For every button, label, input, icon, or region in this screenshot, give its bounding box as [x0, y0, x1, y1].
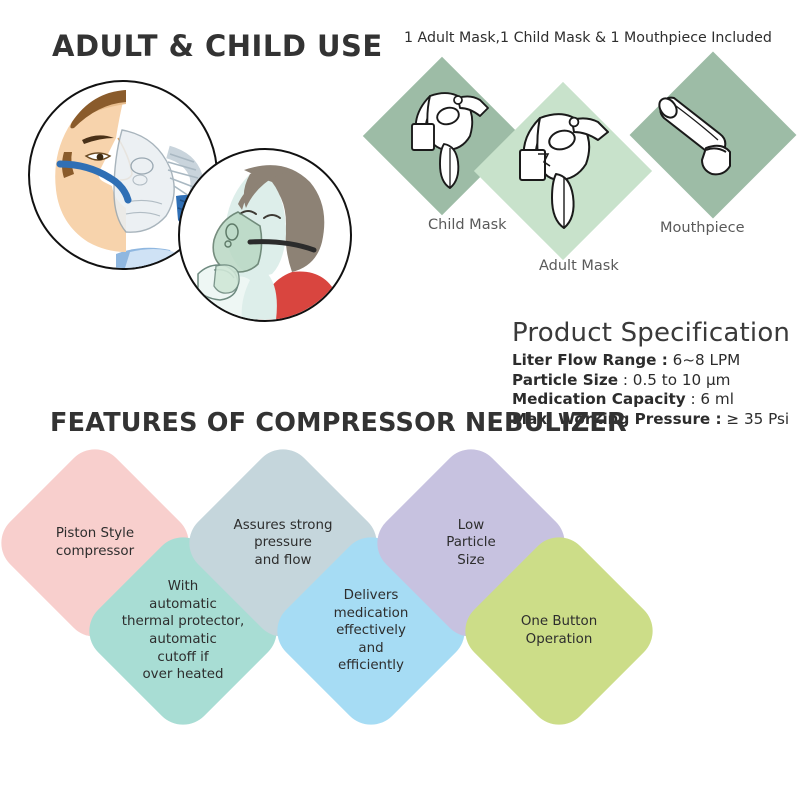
- adult-mask-icon: [512, 96, 622, 241]
- feature-diamond-6[interactable]: One ButtonOperation: [484, 556, 634, 706]
- spec-value-liter-flow-range: 6~8 LPM: [668, 351, 740, 369]
- kit-label-mouthpiece: Mouthpiece: [660, 220, 745, 236]
- kit-label-adult-mask: Adult Mask: [539, 258, 619, 274]
- spec-row-liter-flow-range: Liter Flow Range : 6~8 LPM: [512, 351, 792, 371]
- spec-row-medication-capacity: Medication Capacity : 6 ml: [512, 390, 792, 410]
- features-title: FEATURES OF COMPRESSOR NEBULIZER: [50, 408, 520, 438]
- specification-title: Product Specification: [512, 318, 792, 348]
- spec-value-particle-size: : 0.5 to 10 µm: [618, 371, 730, 389]
- spec-value-medication-capacity: : 6 ml: [686, 390, 734, 408]
- spec-key-medication-capacity: Medication Capacity: [512, 390, 686, 408]
- spec-row-particle-size: Particle Size : 0.5 to 10 µm: [512, 371, 792, 391]
- spec-value-max-working-pressure: ≥ 35 Psi: [722, 410, 790, 428]
- child-using-nebulizer-mask-icon: [180, 150, 350, 320]
- mouthpiece-icon: [648, 82, 758, 197]
- spec-key-particle-size: Particle Size: [512, 371, 618, 389]
- kit-caption: 1 Adult Mask,1 Child Mask & 1 Mouthpiece…: [404, 30, 774, 46]
- page-title-adult-child-use: ADULT & CHILD USE: [52, 29, 392, 63]
- spec-key-liter-flow-range: Liter Flow Range :: [512, 351, 668, 369]
- illustration-child-circle: [178, 148, 352, 322]
- kit-label-child-mask: Child Mask: [428, 217, 507, 233]
